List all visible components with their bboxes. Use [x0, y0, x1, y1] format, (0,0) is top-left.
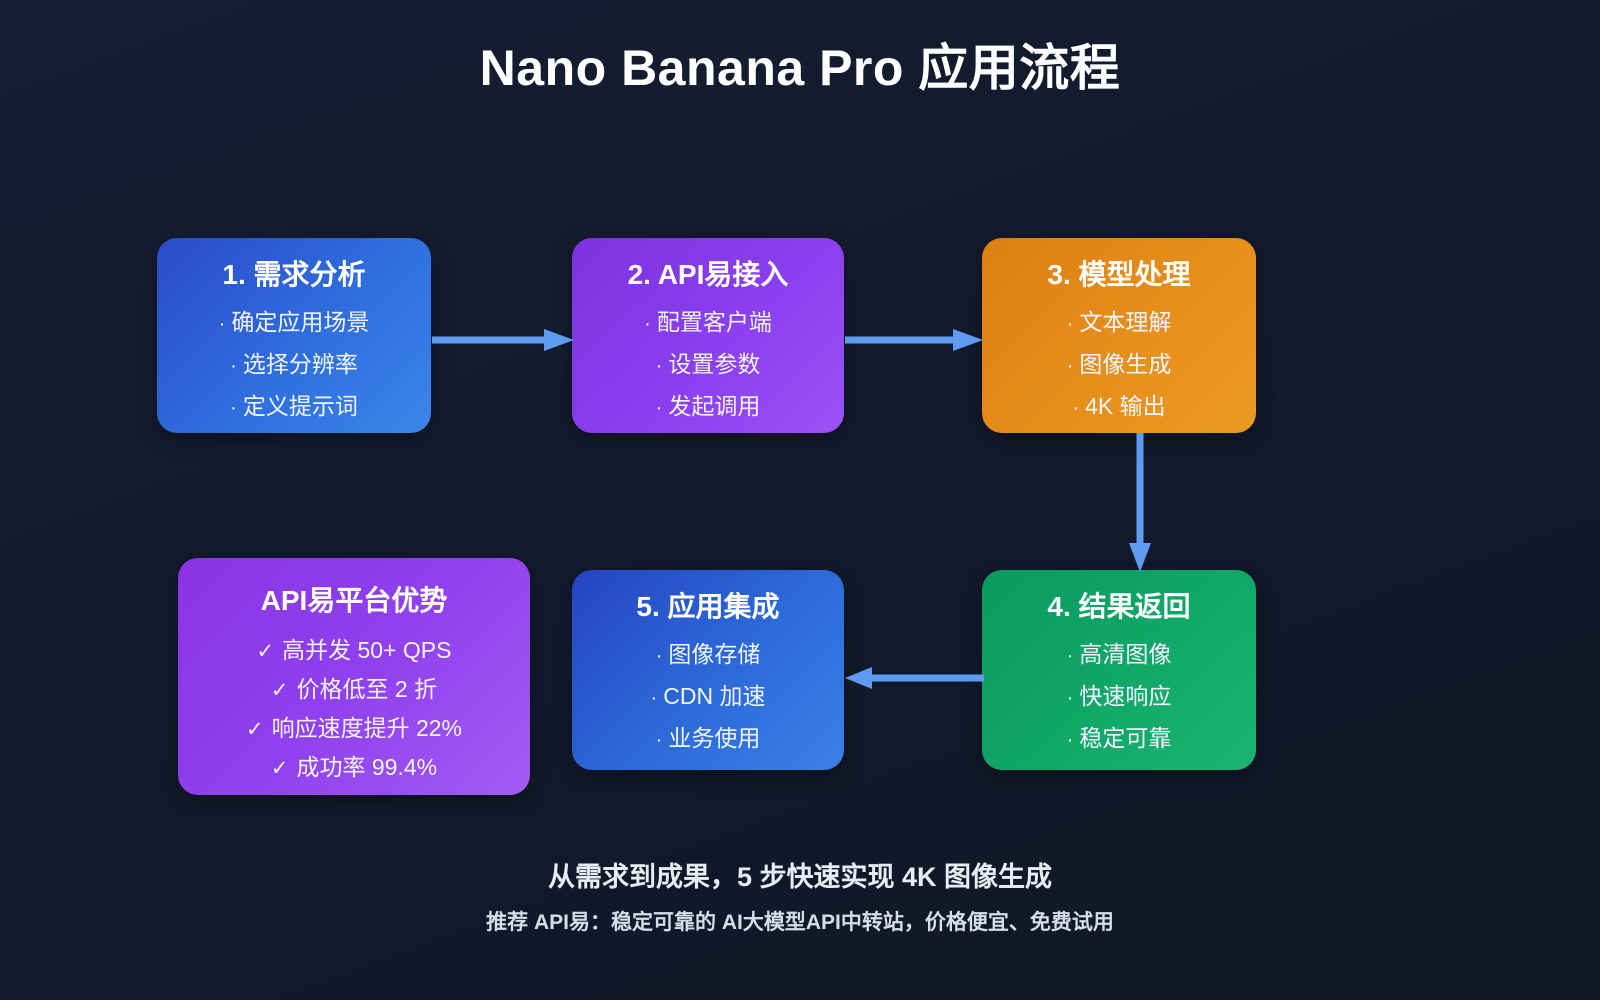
step-card-4-item: ·快速响应	[1067, 685, 1172, 708]
step-card-2-item: ·设置参数	[656, 353, 761, 376]
advantages-item-label: 高并发 50+ QPS	[282, 637, 451, 663]
step-card-2-items: ·配置客户端 ·设置参数 ·发起调用	[572, 311, 844, 418]
step-card-2-item: ·发起调用	[656, 395, 761, 418]
step-card-2[interactable]: 2. API易接入 ·配置客户端 ·设置参数 ·发起调用	[572, 238, 844, 433]
step-card-1[interactable]: 1. 需求分析 ·确定应用场景 ·选择分辨率 ·定义提示词	[157, 238, 431, 433]
step-card-1-item-label: 选择分辨率	[243, 351, 358, 377]
step-card-3-title: 3. 模型处理	[1047, 260, 1190, 291]
step-card-1-item: ·选择分辨率	[230, 353, 358, 376]
step-card-5-items: ·图像存储 ·CDN 加速 ·业务使用	[572, 643, 844, 750]
advantages-item-label: 价格低至 2 折	[297, 676, 438, 702]
bullet-icon: ·	[1067, 313, 1074, 335]
step-card-5-item-label: 业务使用	[668, 725, 760, 751]
bullet-icon: ·	[656, 397, 663, 419]
advantages-item: ✓成功率 99.4%	[271, 756, 437, 779]
step-card-3-item: ·4K 输出	[1072, 395, 1165, 418]
step-card-3-items: ·文本理解 ·图像生成 ·4K 输出	[982, 311, 1256, 418]
step-card-1-item-label: 确定应用场景	[231, 309, 369, 335]
advantages-item-label: 成功率 99.4%	[297, 754, 438, 780]
advantages-item: ✓价格低至 2 折	[271, 678, 437, 701]
step-card-2-item: ·配置客户端	[644, 311, 772, 334]
check-icon: ✓	[246, 718, 264, 741]
step-card-2-item-label: 设置参数	[668, 351, 760, 377]
arrow-step4-to-step5-icon	[845, 664, 984, 692]
step-card-3-item-label: 文本理解	[1079, 309, 1171, 335]
step-card-5-item: ·图像存储	[656, 643, 761, 666]
step-card-1-items: ·确定应用场景 ·选择分辨率 ·定义提示词	[157, 311, 431, 418]
arrow-step1-to-step2-icon	[432, 326, 574, 354]
step-card-5-title: 5. 应用集成	[636, 592, 779, 623]
check-icon: ✓	[257, 640, 275, 663]
page-title: Nano Banana Pro 应用流程	[0, 28, 1600, 100]
bullet-icon: ·	[644, 313, 651, 335]
step-card-3-item-label: 图像生成	[1079, 351, 1171, 377]
arrow-step2-to-step3-icon	[845, 326, 983, 354]
check-icon: ✓	[271, 679, 289, 702]
bullet-icon: ·	[656, 645, 663, 667]
bullet-icon: ·	[1067, 355, 1074, 377]
step-card-3-item: ·文本理解	[1067, 311, 1172, 334]
arrow-step3-to-step4-icon	[1126, 433, 1154, 572]
step-card-1-item-label: 定义提示词	[243, 393, 358, 419]
step-card-3[interactable]: 3. 模型处理 ·文本理解 ·图像生成 ·4K 输出	[982, 238, 1256, 433]
advantages-item: ✓高并发 50+ QPS	[257, 639, 452, 662]
step-card-4-item: ·高清图像	[1067, 643, 1172, 666]
step-card-4[interactable]: 4. 结果返回 ·高清图像 ·快速响应 ·稳定可靠	[982, 570, 1256, 770]
bullet-icon: ·	[219, 313, 226, 335]
step-card-2-title: 2. API易接入	[628, 260, 789, 291]
step-card-5-item: ·CDN 加速	[651, 685, 766, 708]
bullet-icon: ·	[230, 397, 237, 419]
bullet-icon: ·	[1067, 645, 1074, 667]
footer-main-text: 从需求到成果，5 步快速实现 4K 图像生成	[0, 855, 1600, 894]
step-card-3-item-label: 4K 输出	[1085, 393, 1166, 419]
step-card-4-items: ·高清图像 ·快速响应 ·稳定可靠	[982, 643, 1256, 750]
advantages-item: ✓响应速度提升 22%	[246, 717, 462, 740]
bullet-icon: ·	[656, 729, 663, 751]
bullet-icon: ·	[656, 355, 663, 377]
advantages-item-label: 响应速度提升 22%	[272, 715, 462, 741]
step-card-4-item-label: 快速响应	[1079, 683, 1171, 709]
step-card-2-item-label: 配置客户端	[657, 309, 772, 335]
bullet-icon: ·	[1072, 397, 1079, 419]
step-card-4-item-label: 稳定可靠	[1079, 725, 1171, 751]
bullet-icon: ·	[230, 355, 237, 377]
step-card-4-title: 4. 结果返回	[1047, 592, 1190, 623]
bullet-icon: ·	[651, 687, 658, 709]
diagram-canvas: Nano Banana Pro 应用流程 1. 需求分析 ·确定应用场景 ·选择…	[0, 0, 1600, 1000]
advantages-card-items: ✓高并发 50+ QPS ✓价格低至 2 折 ✓响应速度提升 22% ✓成功率 …	[178, 639, 530, 779]
step-card-3-item: ·图像生成	[1067, 353, 1172, 376]
step-card-4-item: ·稳定可靠	[1067, 727, 1172, 750]
step-card-5[interactable]: 5. 应用集成 ·图像存储 ·CDN 加速 ·业务使用	[572, 570, 844, 770]
bullet-icon: ·	[1067, 687, 1074, 709]
step-card-5-item-label: 图像存储	[668, 641, 760, 667]
step-card-1-item: ·确定应用场景	[219, 311, 370, 334]
advantages-card-title: API易平台优势	[261, 586, 448, 617]
step-card-5-item: ·业务使用	[656, 727, 761, 750]
step-card-4-item-label: 高清图像	[1079, 641, 1171, 667]
footer-sub-text: 推荐 API易：稳定可靠的 AI大模型API中转站，价格便宜、免费试用	[0, 906, 1600, 936]
check-icon: ✓	[271, 757, 289, 780]
step-card-1-item: ·定义提示词	[230, 395, 358, 418]
step-card-1-title: 1. 需求分析	[222, 260, 365, 291]
bullet-icon: ·	[1067, 729, 1074, 751]
step-card-2-item-label: 发起调用	[668, 393, 760, 419]
advantages-card[interactable]: API易平台优势 ✓高并发 50+ QPS ✓价格低至 2 折 ✓响应速度提升 …	[178, 558, 530, 795]
step-card-5-item-label: CDN 加速	[663, 683, 765, 709]
